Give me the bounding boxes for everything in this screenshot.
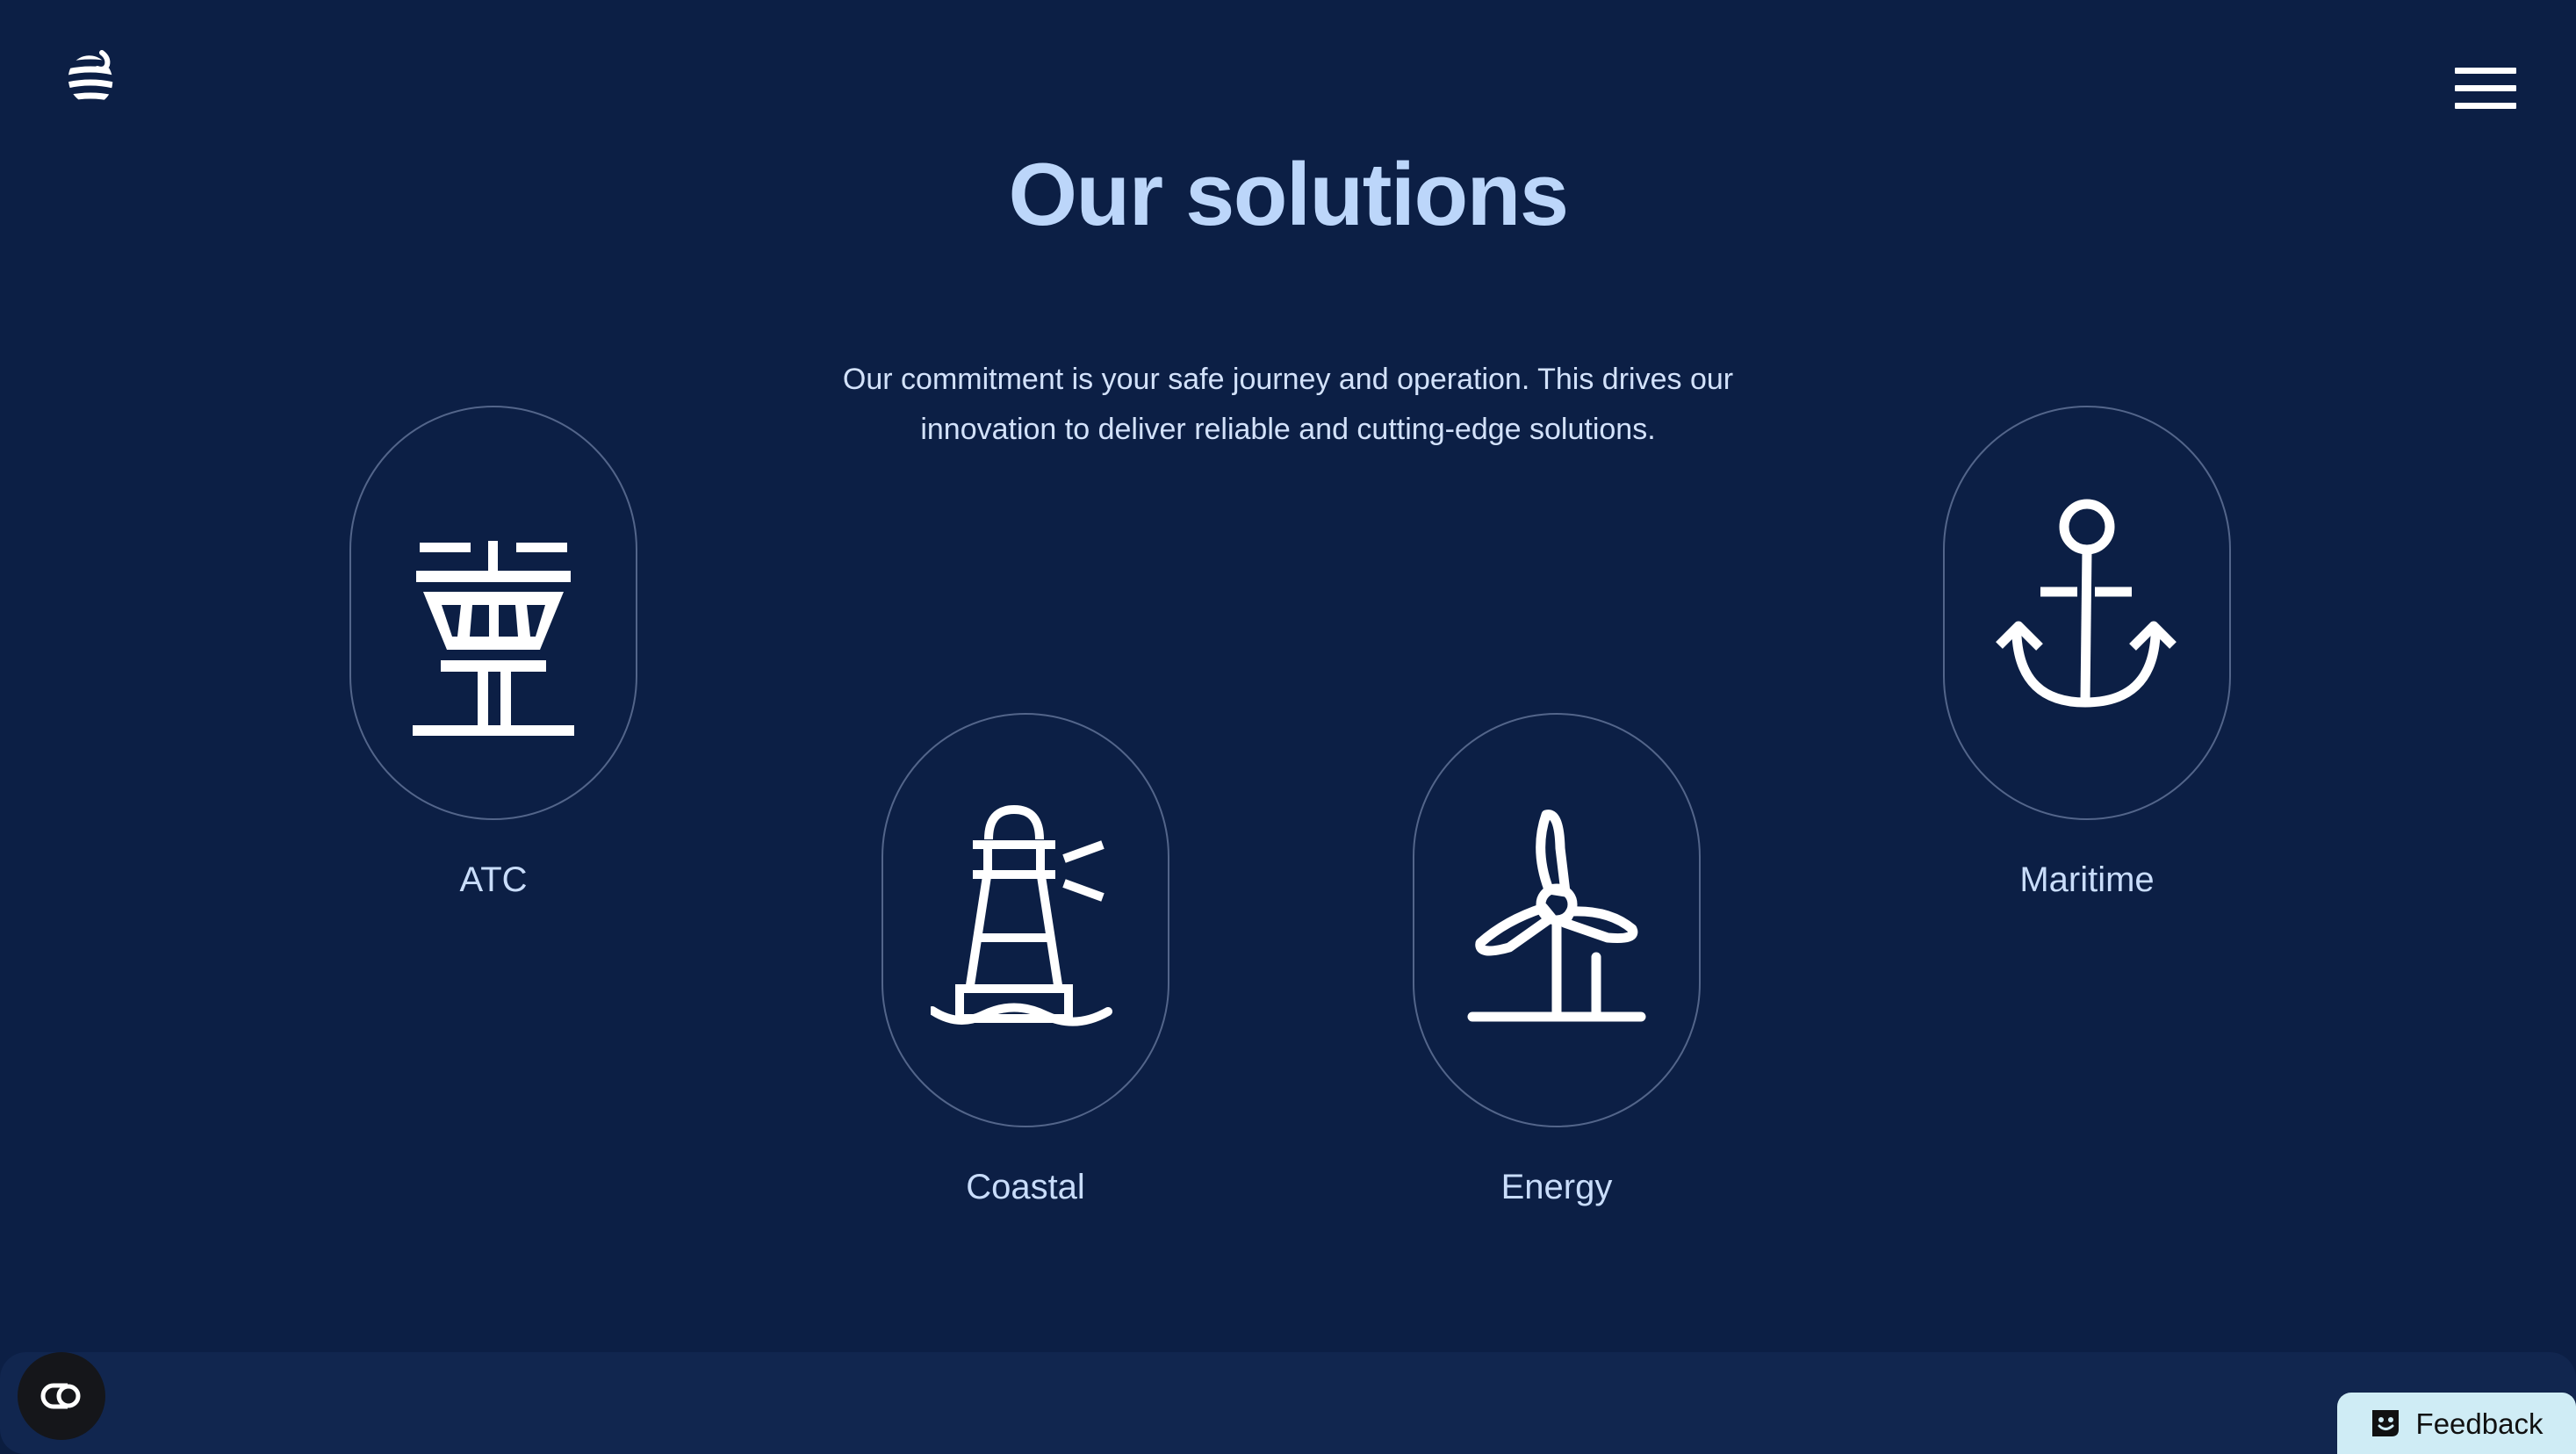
solution-label-maritime: Maritime [1943,859,2231,901]
solutions-grid: ATC [0,0,2576,1352]
solution-card-atc[interactable]: ATC [349,406,637,901]
solution-label-energy: Energy [1413,1166,1701,1208]
consent-toggle-icon [38,1382,85,1410]
control-tower-icon [406,490,581,736]
site-header [0,0,2576,184]
solution-label-coastal: Coastal [881,1166,1169,1208]
hamburger-bar-3 [2455,103,2516,109]
solution-card-maritime[interactable]: Maritime [1943,406,2231,901]
solution-label-atc: ATC [349,859,637,901]
globe-logo[interactable] [63,47,118,109]
bottom-panel [0,1352,2576,1454]
smiley-face-icon [2371,1408,2400,1438]
feedback-button[interactable]: Feedback [2337,1393,2576,1454]
solution-card-energy[interactable]: Energy [1413,713,1701,1208]
card-shape-maritime [1943,406,2231,820]
hamburger-bar-2 [2455,85,2516,91]
card-shape-atc [349,406,637,820]
solution-card-coastal[interactable]: Coastal [881,713,1169,1208]
feedback-label: Feedback [2416,1409,2544,1438]
hamburger-bar-1 [2455,68,2516,74]
lighthouse-icon [931,797,1120,1043]
card-shape-coastal [881,713,1169,1127]
cookie-consent-toggle[interactable] [18,1352,105,1440]
card-shape-energy [1413,713,1701,1127]
hamburger-menu-button[interactable] [2455,63,2516,112]
wind-turbine-icon [1460,797,1653,1043]
anchor-icon [1986,490,2188,736]
globe-logo-icon [63,47,118,109]
